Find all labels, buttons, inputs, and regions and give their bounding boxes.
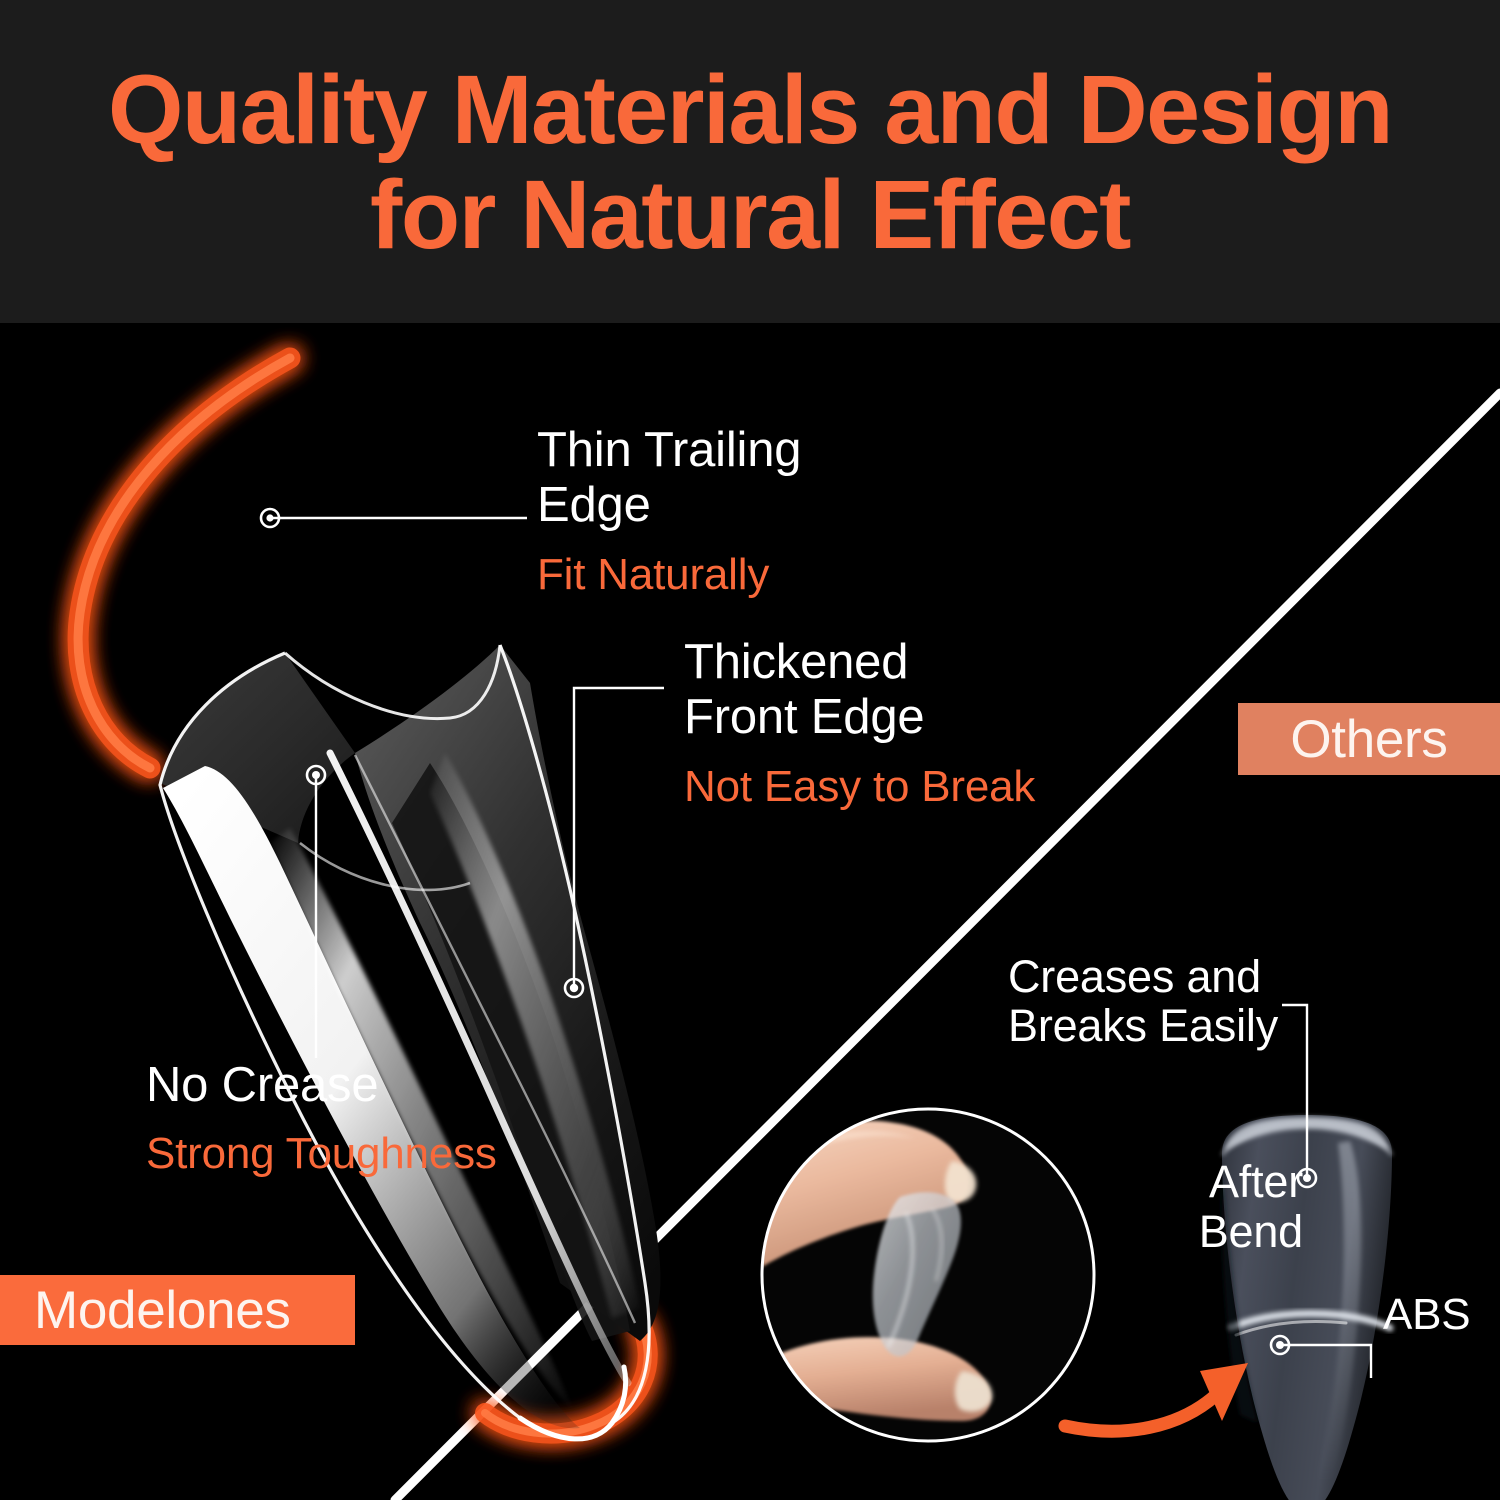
leader-abs [1283, 1345, 1371, 1378]
abs-tip-highlight [1314, 1141, 1361, 1483]
badge-others-label: Others [1290, 709, 1447, 770]
leader-dot-thickened-front-edge [565, 979, 583, 997]
nail-rim-arc [285, 645, 500, 719]
after-bend-arrow [1065, 1363, 1248, 1431]
callout-abs: ABS [1383, 1290, 1500, 1340]
callout-thickened-front-edge: Thickened Front Edge Not Easy to Break [684, 635, 1154, 812]
callout-thin-trailing-edge: Thin Trailing Edge Fit Naturally [537, 423, 967, 600]
abs-crease-line [1232, 1314, 1390, 1329]
callout-no-crease-head: No Crease [146, 1058, 606, 1113]
lower-fingernail [955, 1371, 992, 1412]
header-banner: Quality Materials and Design for Natural… [0, 0, 1500, 323]
callout-no-crease-sub: Strong Toughness [146, 1129, 606, 1180]
badge-modelones: Modelones [0, 1275, 355, 1345]
lower-finger [760, 1337, 990, 1421]
nail-inner-sheen [430, 753, 640, 1318]
callout-thin-trailing-edge-sub: Fit Naturally [537, 550, 967, 601]
callout-thin-trailing-edge-head: Thin Trailing Edge [537, 423, 967, 534]
page-title-line-1: Quality Materials and Design [108, 61, 1392, 158]
upper-finger [762, 1121, 969, 1267]
leader-dot-no-crease [307, 766, 325, 784]
trailing-edge-glow [78, 358, 290, 768]
abs-tip-top-gloss [1224, 1117, 1390, 1151]
nail-inner-rim-arc [300, 843, 470, 890]
arrow-shaft [1065, 1395, 1216, 1431]
callout-after-bend: After Bend [1093, 1157, 1303, 1256]
pinched-clear-tip [873, 1192, 961, 1356]
nail-deep-channel [392, 763, 630, 1341]
nail-crossing-edge [355, 755, 635, 1323]
callout-after-bend-head: After Bend [1093, 1157, 1303, 1256]
comparison-canvas: Thin Trailing Edge Fit Naturally Thicken… [0, 323, 1500, 1500]
pinch-photo-ring [762, 1109, 1094, 1441]
callout-abs-head: ABS [1383, 1290, 1500, 1340]
infographic-page: Quality Materials and Design for Natural… [0, 0, 1500, 1500]
nail-outline-right [500, 645, 649, 1423]
upper-fingernail [945, 1161, 976, 1202]
nail-bottom-lip [520, 1367, 626, 1439]
page-title-line-2: for Natural Effect [370, 166, 1130, 263]
leader-thickened-front-edge [574, 688, 664, 988]
nail-interior-surface [355, 645, 660, 1341]
leader-dot-abs [1271, 1336, 1289, 1354]
callout-creases-and-breaks: Creases and Breaks Easily [1008, 953, 1368, 1050]
callout-thickened-front-edge-head: Thickened Front Edge [684, 635, 1154, 746]
callout-creases-and-breaks-head: Creases and Breaks Easily [1008, 953, 1368, 1050]
callout-thickened-front-edge-sub: Not Easy to Break [684, 762, 1154, 813]
nail-inner-wall [160, 653, 355, 843]
pinch-photo-circle [760, 1107, 1100, 1447]
callout-no-crease: No Crease Strong Toughness [146, 1058, 606, 1180]
badge-others: Others [1238, 703, 1500, 775]
leader-dot-thin-trailing-edge [261, 509, 279, 527]
front-edge-glow [485, 1323, 648, 1434]
arrow-head [1200, 1363, 1248, 1421]
badge-modelones-label: Modelones [34, 1280, 291, 1341]
artboard: Thin Trailing Edge Fit Naturally Thicken… [0, 323, 1500, 1500]
